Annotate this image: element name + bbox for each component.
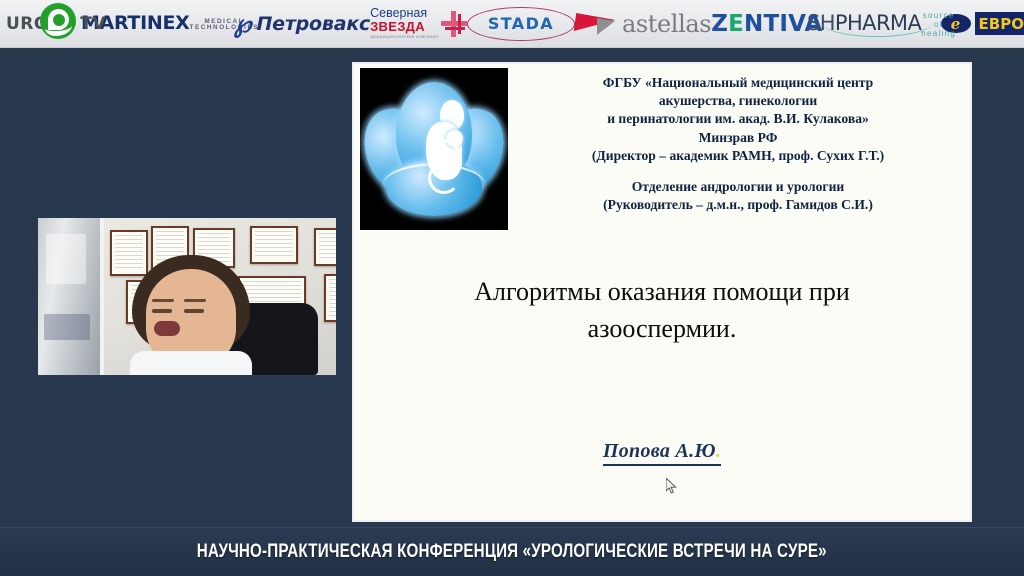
severnaya-tagline: фармацевтическая компания [370, 35, 438, 40]
footer-title: НАУЧНО-ПРАКТИЧЕСКАЯ КОНФЕРЕНЦИЯ «УРОЛОГИ… [197, 541, 827, 563]
wall-certificate [250, 226, 298, 264]
slide-title-line: Алгоритмы оказания помощи при [400, 274, 924, 311]
urotv-text-right: TV [80, 14, 106, 34]
sponsor-logo-urotv[interactable]: URO TV [6, 1, 106, 47]
org-line: ФГБУ «Национальный медицинский центр [514, 74, 962, 92]
sponsor-logo-martinex[interactable]: MARTINEX MEDICAL TECHNOLOGIES [106, 14, 234, 33]
severnaya-line1: Северная [370, 7, 438, 20]
author-name: Попова А.Ю. [603, 440, 721, 466]
leaf-circle-icon [40, 3, 76, 39]
slide-title-line: азооспермии. [400, 311, 924, 348]
zentiva-z: Z [711, 11, 728, 37]
sponsor-logo-astellas[interactable]: astellas [575, 9, 711, 39]
lotus-mother-child-icon [360, 68, 508, 230]
org-line: (Директор – академик РАМН, проф. Сухих Г… [514, 147, 962, 165]
sponsor-logo-severnaya-zvezda[interactable]: Северная ЗВЕЗДА фармацевтическая компани… [370, 7, 467, 40]
organization-block: ФГБУ «Национальный медицинский центр аку… [508, 68, 964, 214]
broadcast-stage: ФГБУ «Национальный медицинский центр аку… [0, 48, 1024, 528]
oval-outline-icon [467, 7, 575, 41]
petrovax-mark-icon: ℘ [234, 11, 251, 36]
mouse-cursor-icon [666, 478, 677, 494]
speaker-webcam-video[interactable] [38, 218, 336, 375]
org-line: акушерства, гинекологии [514, 92, 962, 110]
severnaya-line2: ЗВЕЗДА [370, 20, 438, 33]
slide-title: Алгоритмы оказания помощи при азоосперми… [354, 274, 970, 348]
evroservice-name-a: ЕВРО [976, 13, 1024, 34]
sponsor-logo-shpharma[interactable]: SHPHARMA source of healing [823, 4, 941, 44]
org-line: Минзрав РФ [514, 129, 962, 147]
petrovax-name: Петровакс [256, 13, 370, 35]
zentiva-e: E [728, 11, 744, 37]
astellas-name: astellas [622, 10, 711, 38]
dept-line: Отделение андрологии и урологии [514, 178, 962, 196]
wall-certificate [324, 274, 336, 322]
presentation-slide[interactable]: ФГБУ «Национальный медицинский центр аку… [352, 62, 972, 522]
speaker-figure [126, 255, 256, 375]
dept-line: (Руководитель – д.м.н., проф. Гамидов С.… [514, 196, 962, 214]
slide-author: Попова А.Ю. [354, 440, 970, 466]
slide-header: ФГБУ «Национальный медицинский центр аку… [354, 64, 970, 230]
sponsor-logo-bar: URO TV MARTINEX MEDICAL TECHNOLOGIES ℘ П… [0, 0, 1024, 48]
org-line: и перинатологии им. акад. В.И. Кулакова» [514, 110, 962, 128]
wall-certificate [314, 228, 336, 266]
glass-cabinet [38, 218, 104, 375]
cross-hatch-icon [441, 11, 467, 37]
conference-footer-banner: НАУЧНО-ПРАКТИЧЕСКАЯ КОНФЕРЕНЦИЯ «УРОЛОГИ… [0, 527, 1024, 576]
author-dot: . [716, 440, 721, 462]
star-arrow-icon [575, 9, 621, 39]
sponsor-logo-stada[interactable]: STADA [467, 7, 575, 41]
sponsor-logo-petrovax[interactable]: ℘ Петровакс [234, 11, 370, 36]
sponsor-logo-zentiva[interactable]: ZENTIVA [711, 11, 822, 37]
